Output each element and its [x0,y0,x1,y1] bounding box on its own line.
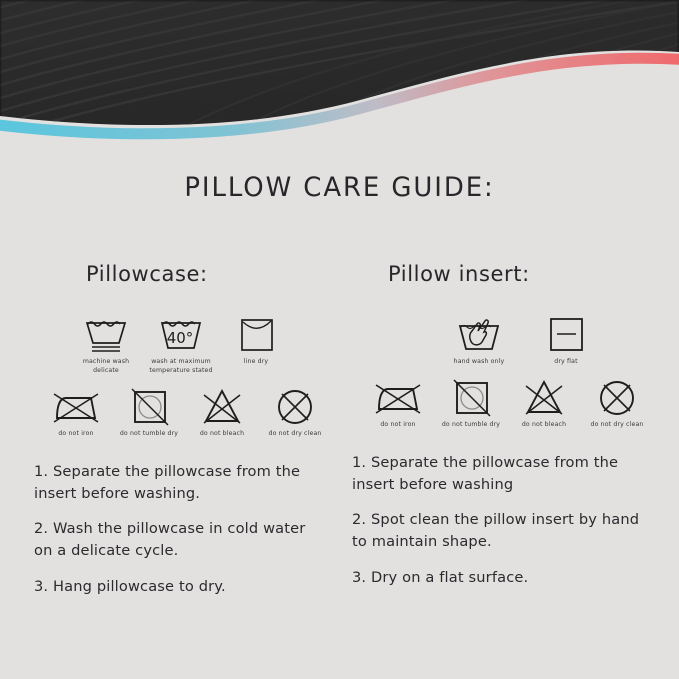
symbol-caption: do not dry clean [269,430,322,439]
pillowcase-instructions: 1. Separate the pillowcase from the inse… [28,461,348,598]
banner-graphic [0,0,679,150]
symbol-dry-flat: dry flat [534,312,598,367]
instruction-item: 3. Dry on a flat surface. [352,567,644,589]
insert-instructions: 1. Separate the pillowcase from the inse… [350,452,670,589]
hand-wash-only-icon [453,312,505,354]
section-pillow-insert: Pillow insert: hand wash only [350,262,670,589]
do-not-tumble-dry-icon [447,375,495,417]
instruction-item: 1. Separate the pillowcase from the inse… [352,452,644,496]
pillowcase-wash-symbols: machine wash delicate 40° wash at maximu… [28,312,348,376]
symbol-caption: do not tumble dry [442,421,500,430]
symbol-wash-40-degrees: 40° wash at maximum temperature stated [144,312,218,376]
do-not-iron-icon [370,375,426,417]
symbol-do-not-bleach: do not bleach [190,384,254,439]
symbol-line-dry: line dry [224,312,288,367]
page-title: PILLOW CARE GUIDE: [14,172,666,203]
symbol-hand-wash-only: hand wash only [442,312,516,367]
pillowcase-prohibition-symbols: do not iron do not tumble dry [28,384,348,439]
symbol-caption: machine wash delicate [83,358,129,376]
line-dry-icon [234,312,278,354]
insert-prohibition-symbols: do not iron do not tumble dry [350,375,670,430]
do-not-bleach-icon [519,375,569,417]
instruction-item: 2. Wash the pillowcase in cold water on … [34,518,326,562]
symbol-caption: dry flat [554,358,577,367]
symbol-caption: wash at maximum temperature stated [149,358,212,376]
symbol-caption: do not dry clean [591,421,644,430]
symbol-do-not-tumble-dry: do not tumble dry [112,384,186,439]
symbol-caption: do not bleach [200,430,244,439]
symbol-do-not-tumble-dry: do not tumble dry [434,375,508,430]
symbol-caption: do not iron [380,421,415,430]
symbol-machine-wash-delicate: machine wash delicate [74,312,138,376]
symbol-caption: do not tumble dry [120,430,178,439]
symbol-caption: line dry [244,358,268,367]
instruction-item: 2. Spot clean the pillow insert by hand … [352,509,644,553]
symbol-caption: do not bleach [522,421,566,430]
symbol-caption: hand wash only [454,358,505,367]
symbol-do-not-iron: do not iron [366,375,430,430]
instruction-item: 1. Separate the pillowcase from the inse… [34,461,326,505]
do-not-bleach-icon [197,384,247,426]
insert-wash-symbols: hand wash only dry flat [350,312,670,367]
symbol-caption: do not iron [58,430,93,439]
pillow-care-guide-page: PILLOW CARE GUIDE: Pillowcase: machine w… [0,0,679,679]
symbol-do-not-bleach: do not bleach [512,375,576,430]
dry-flat-icon [544,312,588,354]
section-pillowcase: Pillowcase: machine wash delicate [28,262,348,598]
do-not-dry-clean-icon [271,384,319,426]
section-heading-pillowcase: Pillowcase: [28,262,348,286]
do-not-dry-clean-icon [593,375,641,417]
machine-wash-delicate-icon [81,312,131,354]
header-banner [0,0,679,150]
instruction-item: 3. Hang pillowcase to dry. [34,576,326,598]
symbol-do-not-iron: do not iron [44,384,108,439]
wash-40-degrees-icon: 40° [156,312,206,354]
symbol-do-not-dry-clean: do not dry clean [580,375,654,430]
symbol-do-not-dry-clean: do not dry clean [258,384,332,439]
section-heading-pillow-insert: Pillow insert: [350,262,670,286]
do-not-tumble-dry-icon [125,384,173,426]
do-not-iron-icon [48,384,104,426]
wash-temperature-value: 40° [167,329,194,347]
